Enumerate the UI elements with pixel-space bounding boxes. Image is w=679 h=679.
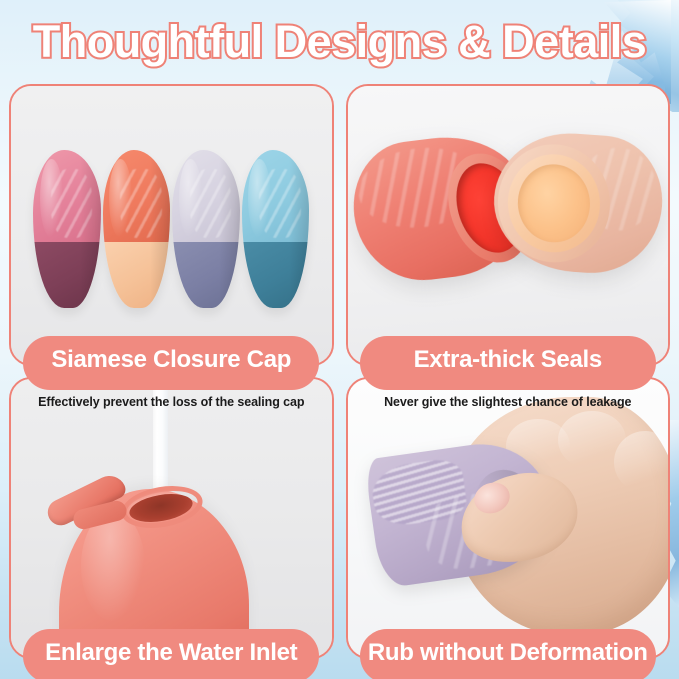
feature-card-rub-without-deformation: Rub without Deformation Never give the s… — [346, 377, 671, 659]
caption-title: Siamese Closure Cap — [51, 348, 291, 372]
caption-title: Extra-thick Seals — [414, 348, 602, 372]
page-title: Thoughtful Designs & Details — [0, 6, 679, 78]
caption-pill-enlarge-the-water-inlet: Enlarge the Water Inlet — [23, 629, 319, 679]
caption-title: Enlarge the Water Inlet — [45, 641, 297, 665]
feature-grid: Siamese Closure Cap Effectively prevent … — [9, 84, 670, 659]
product-image-four-caps — [11, 86, 332, 364]
product-image-collapsed-bottles — [348, 86, 669, 364]
feature-card-extra-thick-seals: Extra-thick Seals Never give the slighte… — [346, 84, 671, 366]
cap-lavender — [172, 150, 240, 308]
product-image-water-inlet — [11, 379, 332, 657]
cap-blue — [242, 150, 310, 308]
feature-card-siamese-closure-cap: Siamese Closure Cap Effectively prevent … — [9, 84, 334, 366]
product-image-hand-squeeze — [348, 379, 669, 657]
caption-title: Rub without Deformation — [368, 641, 648, 665]
caption-pill-extra-thick-seals: Extra-thick Seals — [360, 336, 656, 390]
caption-pill-siamese-closure-cap: Siamese Closure Cap — [23, 336, 319, 390]
caption-subtitle: Never give the slightest chance of leaka… — [384, 395, 631, 409]
cap-coral — [103, 150, 171, 308]
feature-card-enlarge-the-water-inlet: Enlarge the Water Inlet Smooth water fil… — [9, 377, 334, 659]
peach-bottle — [489, 128, 666, 277]
caption-subtitle: Effectively prevent the loss of the seal… — [38, 395, 304, 409]
caption-pill-rub-without-deformation: Rub without Deformation — [360, 629, 656, 679]
page-title-text: Thoughtful Designs & Details — [33, 16, 647, 68]
cap-pink — [33, 150, 101, 308]
cap-row — [33, 136, 309, 308]
